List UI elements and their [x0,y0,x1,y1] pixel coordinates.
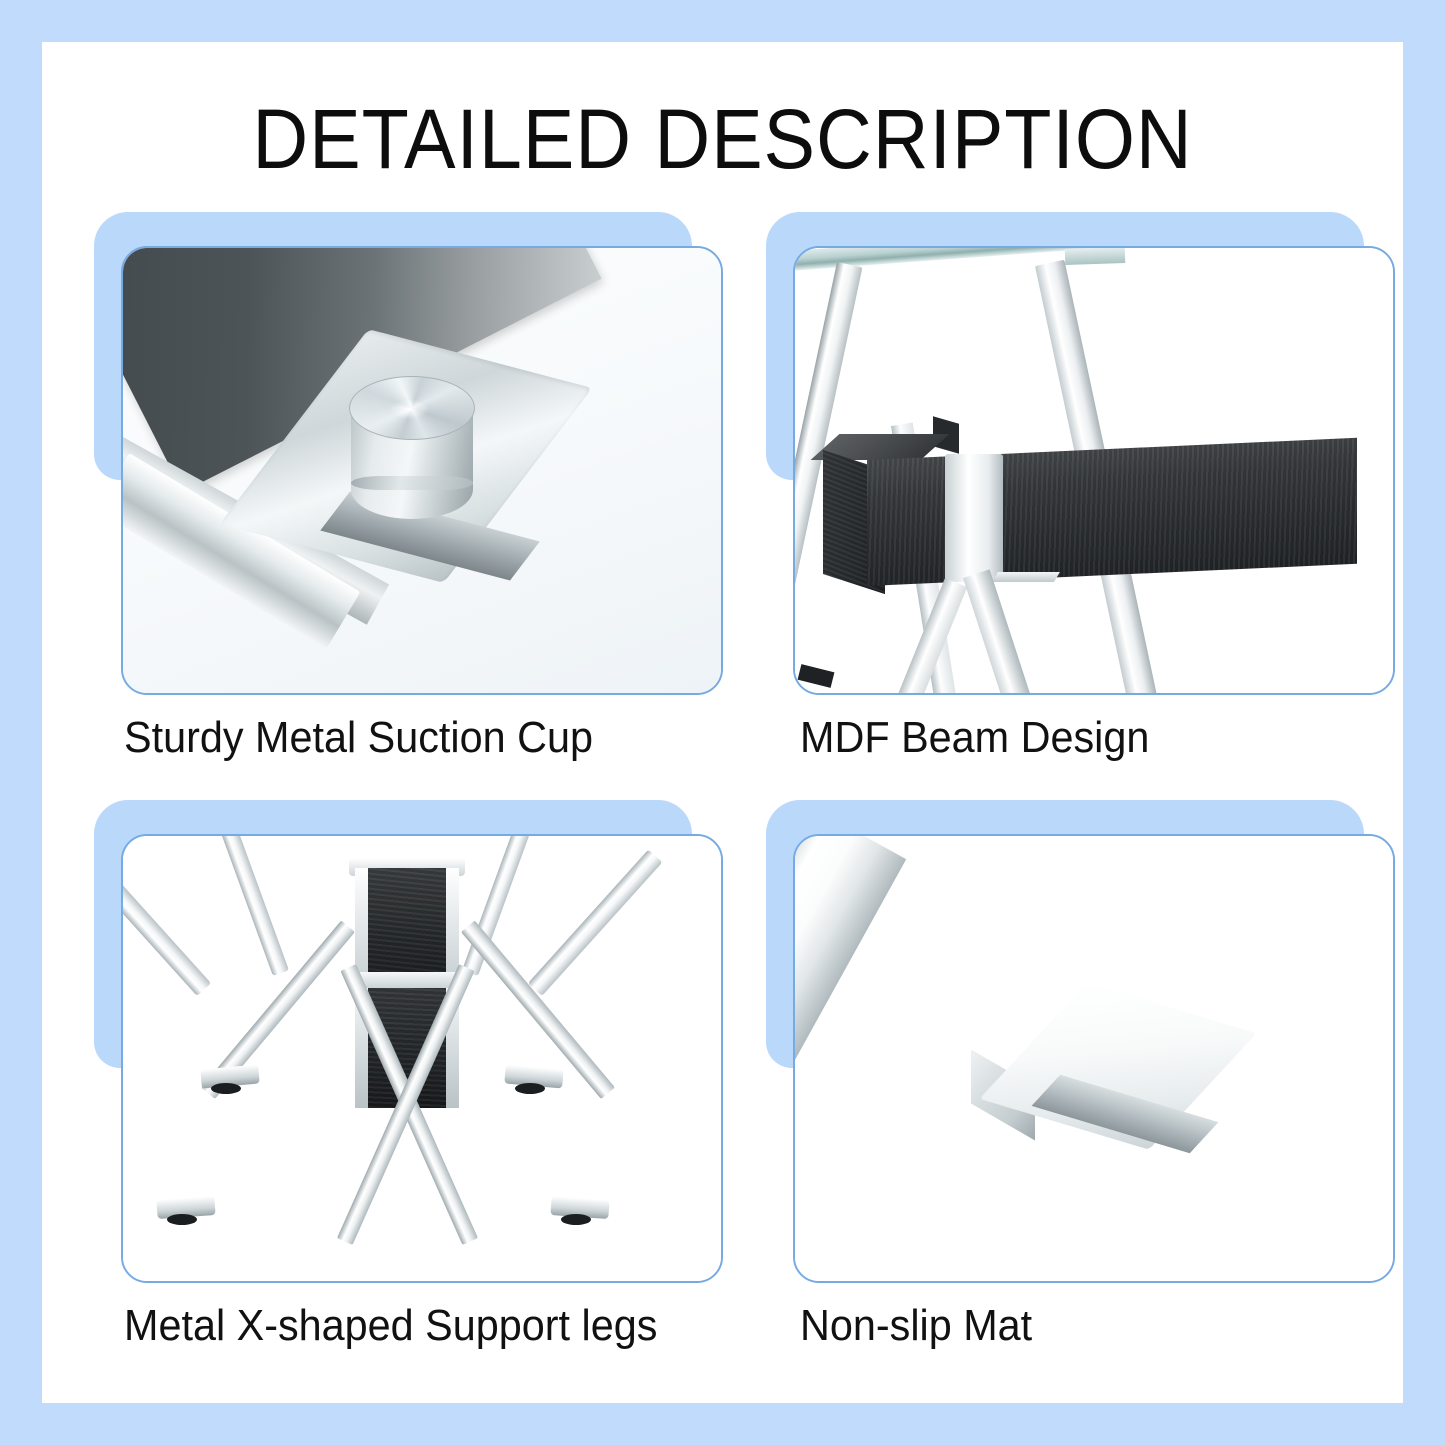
suction-cup-top [349,376,475,440]
feature-card-mdf-beam: MDF Beam Design [762,212,1402,802]
photo-frame [121,834,723,1283]
suction-cup-photo [123,248,721,693]
non-slip-pad-4 [561,1214,591,1225]
photo-frame [793,246,1395,695]
non-slip-pad-1 [211,1083,241,1094]
feature-caption: MDF Beam Design [800,710,1364,766]
mdf-beam-face [867,438,1357,586]
photo-frame [121,246,723,695]
feature-card-non-slip-mat: Non-slip Mat [762,800,1402,1390]
non-slip-pad [798,664,835,688]
feature-grid: Sturdy Metal Suction Cup [42,42,1403,1403]
feature-caption: Non-slip Mat [800,1298,1364,1354]
feature-caption: Metal X-shaped Support legs [124,1298,688,1354]
chrome-leg-shaft [795,836,906,1157]
chrome-leg-upper-left-outer [123,850,211,996]
mdf-beam-upper [355,868,459,980]
non-slip-pad-3 [167,1214,197,1225]
feature-card-suction-cup: Sturdy Metal Suction Cup [90,212,730,802]
chrome-leg-upper-left-inner [218,836,289,976]
non-slip-mat-photo [795,836,1393,1281]
glass-top-edge [1065,248,1126,265]
non-slip-pad-2 [515,1083,545,1094]
chrome-leg-lower-right [963,569,1033,693]
chrome-joint-hub [945,454,1003,582]
suction-cup-ring [351,476,473,490]
photo-frame [793,834,1395,1283]
chrome-leg-upper-right-outer [528,850,663,996]
mdf-beam-photo [795,248,1393,693]
infographic-panel: DETAILED DESCRIPTION Sturdy Metal Suctio… [42,42,1403,1403]
x-legs-photo [123,836,721,1281]
feature-card-x-legs: Metal X-shaped Support legs [90,800,730,1390]
chrome-bracket [992,572,1060,582]
feature-caption: Sturdy Metal Suction Cup [124,710,688,766]
